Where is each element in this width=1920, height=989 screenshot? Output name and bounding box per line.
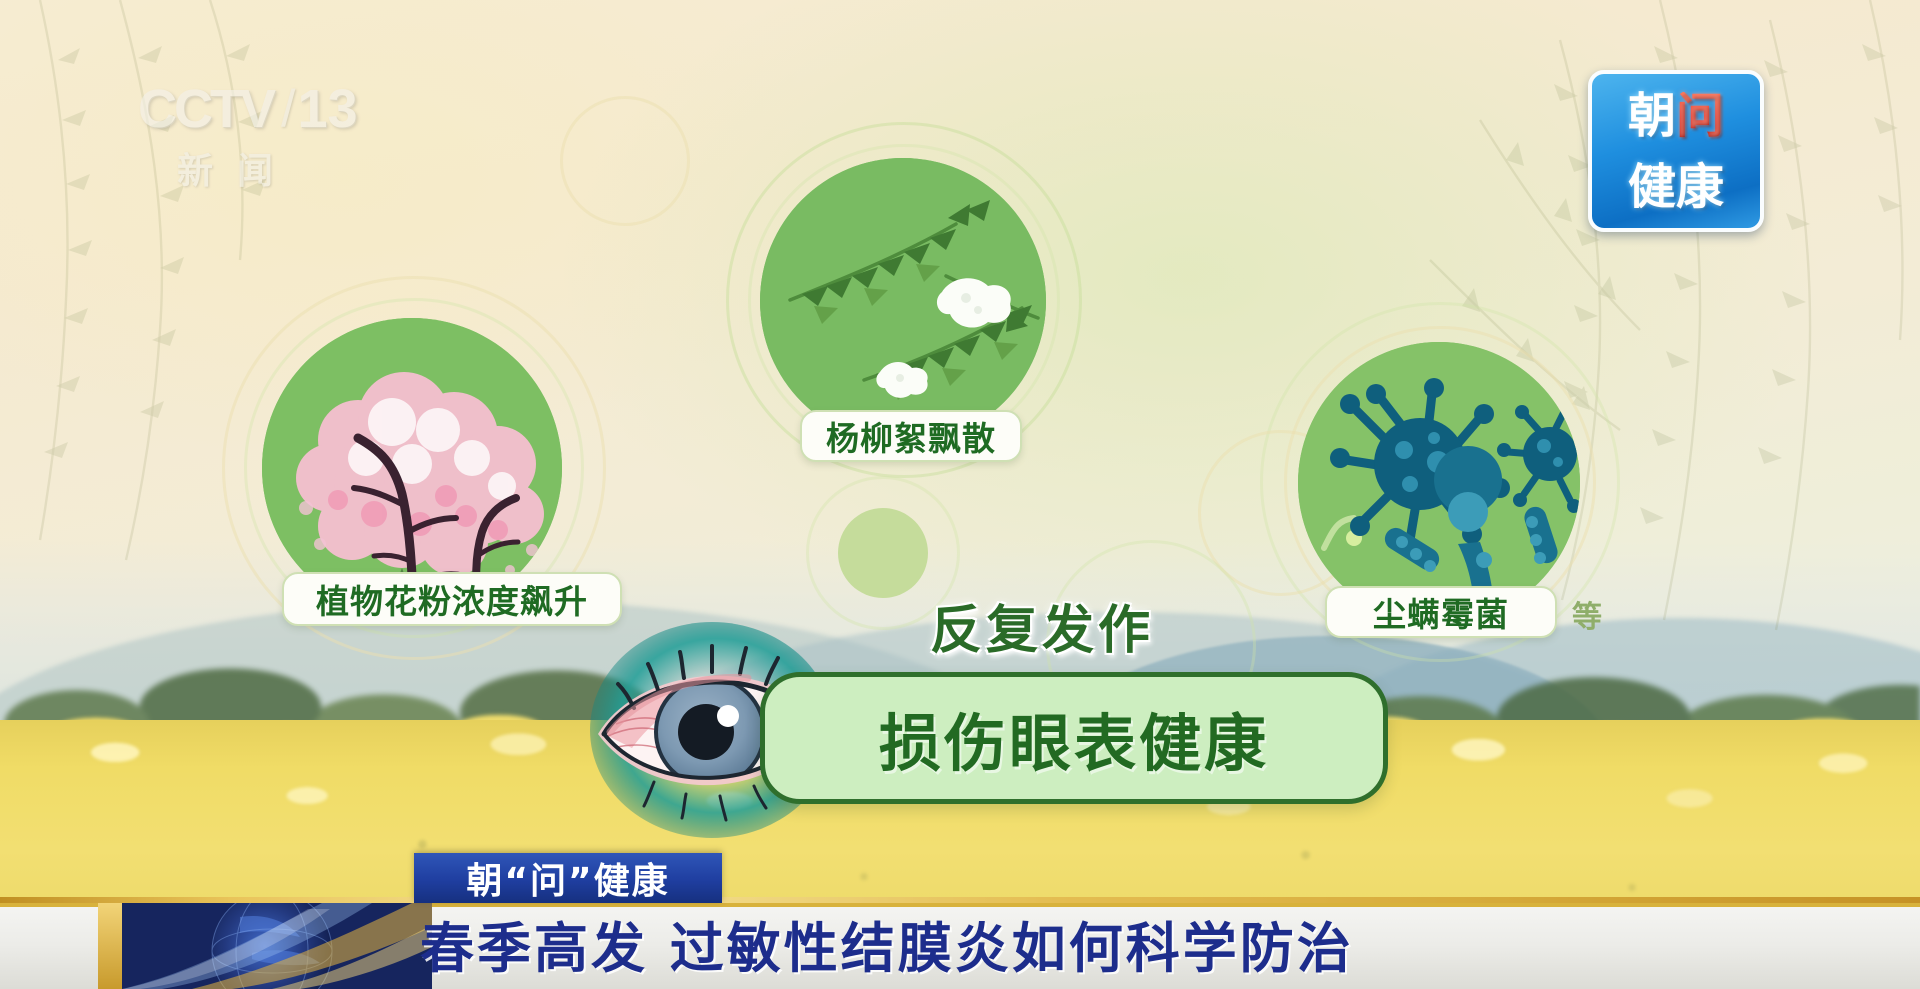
cctv-wordmark: CCTV	[138, 78, 273, 140]
label-pollen-text: 植物花粉浓度飙升	[316, 575, 588, 623]
cctv-news-globe-icon	[122, 903, 432, 989]
label-mite-text: 尘螨霉菌	[1373, 588, 1509, 636]
label-catkin: 杨柳絮飘散	[800, 410, 1022, 462]
bug-char-2: 问	[1676, 92, 1724, 140]
recurrent-attack-text: 反复发作	[930, 588, 1154, 663]
label-mite: 尘螨霉菌	[1325, 586, 1557, 638]
decor-ring	[560, 96, 690, 226]
circle-image-germ	[1298, 342, 1580, 624]
main-banner-text: 损伤眼表健康	[879, 693, 1269, 783]
bug-char-4: 康	[1676, 163, 1724, 211]
willow-catkin-icon	[760, 158, 1046, 444]
label-catkin-text: 杨柳絮飘散	[826, 412, 996, 460]
headline-text: 春季高发 过敏性结膜炎如何科学防治	[420, 904, 1354, 983]
program-tag-text: 朝“问”健康	[466, 852, 669, 904]
main-banner: 损伤眼表健康	[760, 672, 1388, 804]
broadcast-frame: 植物花粉浓度飙升 杨柳絮飘散 尘螨霉菌 等 反复发作 损伤眼表健康 CCTV /…	[0, 0, 1920, 989]
circle-image-willow	[760, 158, 1046, 444]
lower-third-bar: 春季高发 过敏性结膜炎如何科学防治	[0, 903, 1920, 989]
label-pollen: 植物花粉浓度飙升	[282, 572, 622, 626]
virus-bacteria-icon	[1298, 342, 1580, 624]
program-logo-bug: 朝 问 健 康	[1588, 70, 1764, 232]
program-tag-banner: 朝“问”健康	[414, 853, 722, 903]
logo-slash: /	[281, 79, 295, 139]
channel-subtitle: 新闻	[177, 151, 297, 192]
label-etc-text: 等	[1572, 592, 1602, 636]
lower-third-left-accent	[98, 903, 124, 989]
bug-char-3: 健	[1628, 163, 1676, 211]
bug-char-1: 朝	[1628, 92, 1676, 140]
channel-number: 13	[297, 78, 357, 140]
cctv13-logo: CCTV / 13 新闻	[138, 78, 378, 188]
decor-circle-small	[838, 508, 928, 598]
